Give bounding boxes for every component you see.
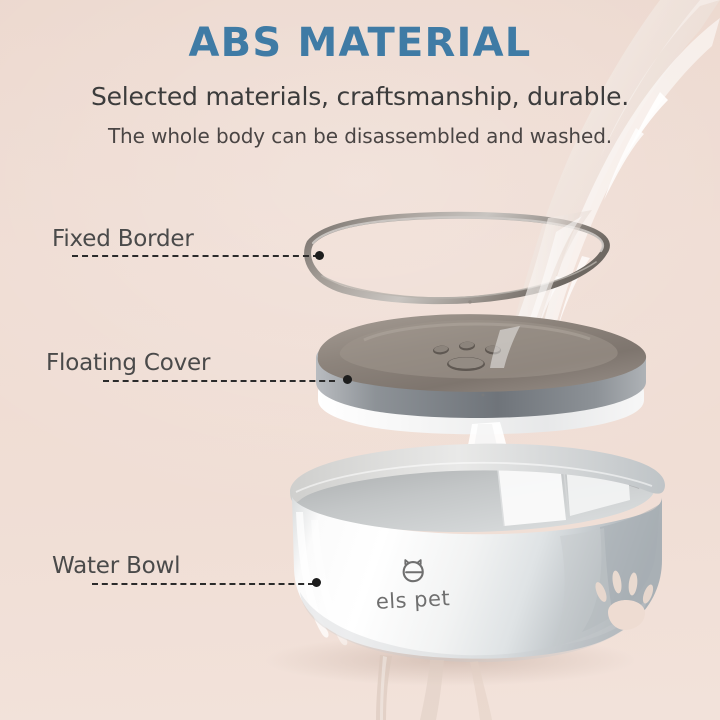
callout-label-floating-cover: Floating Cover [46, 350, 210, 376]
product-infographic: ABS MATERIAL Selected materials, craftsm… [0, 0, 720, 720]
callout-line-fixed-border [72, 255, 319, 257]
page-subtitle-secondary: The whole body can be disassembled and w… [0, 124, 720, 148]
page-subtitle: Selected materials, craftsmanship, durab… [0, 82, 720, 111]
callout-dot-floating-cover [343, 375, 352, 384]
callout-label-fixed-border: Fixed Border [52, 226, 194, 252]
callout-label-water-bowl: Water Bowl [52, 553, 180, 579]
page-title: ABS MATERIAL [0, 20, 720, 66]
callout-dot-water-bowl [312, 578, 321, 587]
callout-line-water-bowl [92, 583, 314, 585]
callout-dot-fixed-border [315, 251, 324, 260]
callout-line-floating-cover [103, 380, 335, 382]
